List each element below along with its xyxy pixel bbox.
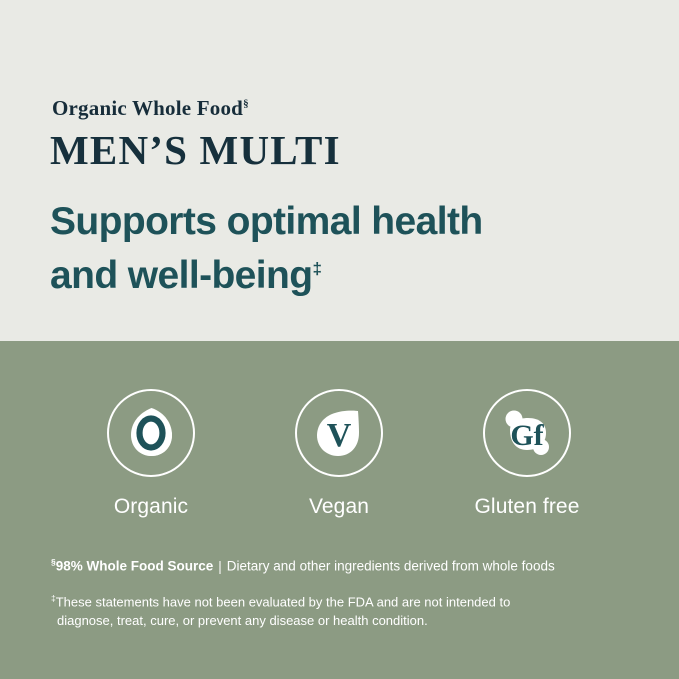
footnote-whole-food-source: §98% Whole Food Source|Dietary and other… (51, 553, 651, 576)
page-title: MEN’S MULTI (50, 126, 341, 174)
badge-gluten-free-label: Gluten free (475, 495, 580, 519)
badge-organic-label: Organic (114, 495, 188, 519)
footnote-separator: | (213, 559, 227, 574)
headline: Supports optimal health and well-being‡ (50, 198, 650, 299)
badge-gluten-free: Gf Gluten free (433, 389, 621, 519)
gluten-free-gf-icon: Gf (496, 402, 558, 464)
footnote-fda-line-1: These statements have not been evaluated… (56, 594, 511, 609)
svg-text:Gf: Gf (510, 419, 544, 452)
certification-badge-list: Organic V Vegan (0, 389, 679, 519)
footnote-fda-line-2: diagnose, treat, cure, or prevent any di… (51, 611, 651, 630)
vegan-leaf-v-icon: V (308, 402, 370, 464)
hero-panel: Organic Whole Food§ MEN’S MULTI Supports… (0, 0, 679, 341)
badge-vegan: V Vegan (245, 389, 433, 519)
footnote-fda-disclaimer: ‡These statements have not been evaluate… (51, 589, 651, 630)
badge-gluten-free-circle: Gf (483, 389, 571, 477)
badge-organic: Organic (57, 389, 245, 519)
headline-footnote-marker: ‡ (312, 259, 321, 278)
badge-vegan-label: Vegan (309, 495, 369, 519)
footnote-strong-text: 98% Whole Food Source (56, 559, 214, 574)
eyebrow-text: Organic Whole Food§ (52, 96, 249, 121)
certifications-panel: Organic V Vegan (0, 341, 679, 679)
footnote-rest-text: Dietary and other ingredients derived fr… (227, 559, 555, 574)
eyebrow-label: Organic Whole Food (52, 96, 243, 120)
organic-leaf-o-icon (120, 402, 182, 464)
badge-vegan-circle: V (295, 389, 383, 477)
footnotes: §98% Whole Food Source|Dietary and other… (51, 553, 651, 630)
svg-text:V: V (327, 417, 352, 454)
eyebrow-footnote-marker: § (243, 98, 249, 110)
headline-line-2: and well-being (50, 254, 312, 297)
headline-line-1: Supports optimal health (50, 200, 483, 243)
badge-organic-circle (107, 389, 195, 477)
product-infographic: Organic Whole Food§ MEN’S MULTI Supports… (0, 0, 679, 679)
